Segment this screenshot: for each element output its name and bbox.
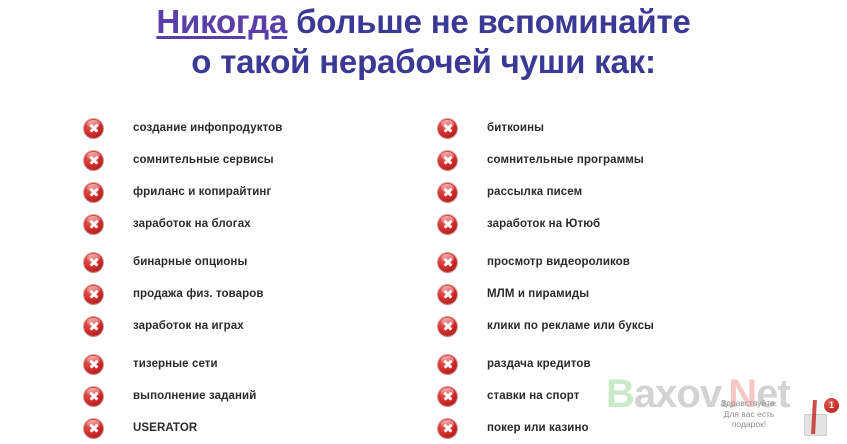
list-item-label: раздача кредитов [487, 358, 591, 370]
icon-gloss [87, 254, 100, 262]
red-x-circle-icon [438, 119, 457, 138]
chat-greeting-line-1: Здравствуйте. [706, 398, 792, 409]
list-item: заработок на играх [84, 310, 434, 342]
chat-greeting: Здравствуйте. Для вас есть подарок! [706, 398, 792, 430]
left-column: создание инфопродуктовсомнительные серви… [84, 112, 434, 444]
page-title: Никогда больше не вспоминайте о такой не… [0, 2, 847, 82]
list-item-label: заработок на играх [133, 320, 244, 332]
red-x-circle-icon [84, 387, 103, 406]
chat-greeting-line-2: Для вас есть [706, 409, 792, 420]
list-item: бинарные опционы [84, 246, 434, 278]
red-x-circle-icon [84, 317, 103, 336]
icon-gloss [441, 152, 454, 160]
list-item-label: заработок на блогах [133, 218, 251, 230]
chat-widget[interactable]: Здравствуйте. Для вас есть подарок! 1 [706, 398, 847, 436]
icon-gloss [441, 420, 454, 428]
icon-gloss [87, 184, 100, 192]
icon-gloss [441, 318, 454, 326]
list-item-label: сомнительные сервисы [133, 154, 274, 166]
list-item-label: ставки на спорт [487, 390, 579, 402]
red-x-circle-icon [84, 355, 103, 374]
list-item-label: USERATOR [133, 422, 197, 434]
title-line-2: о такой нерабочей чуши как: [0, 42, 847, 82]
red-x-circle-icon [438, 215, 457, 234]
icon-gloss [87, 286, 100, 294]
list-item: фриланс и копирайтинг [84, 176, 434, 208]
list-item: сомнительные сервисы [84, 144, 434, 176]
red-x-circle-icon [84, 215, 103, 234]
list-item: тизерные сети [84, 348, 434, 380]
list-item-label: покер или казино [487, 422, 589, 434]
red-x-circle-icon [438, 355, 457, 374]
list-item: сомнительные программы [438, 144, 788, 176]
list-item: клики по рекламе или буксы [438, 310, 788, 342]
list-item: заработок на блогах [84, 208, 434, 240]
list-item-label: сомнительные программы [487, 154, 644, 166]
icon-gloss [87, 420, 100, 428]
icon-gloss [87, 388, 100, 396]
icon-gloss [441, 216, 454, 224]
red-x-circle-icon [84, 151, 103, 170]
red-x-circle-icon [438, 419, 457, 438]
icon-gloss [87, 318, 100, 326]
watermark-b: B [606, 372, 634, 416]
red-x-circle-icon [84, 183, 103, 202]
red-x-circle-icon [438, 387, 457, 406]
list-item-label: биткоины [487, 122, 544, 134]
icon-gloss [87, 152, 100, 160]
list-item-label: выполнение заданий [133, 390, 256, 402]
list-item-label: тизерные сети [133, 358, 218, 370]
list-item: USERATOR [84, 412, 434, 444]
list-item: МЛМ и пирамиды [438, 278, 788, 310]
red-x-circle-icon [438, 317, 457, 336]
red-x-circle-icon [438, 253, 457, 272]
red-x-circle-icon [438, 151, 457, 170]
icon-gloss [441, 184, 454, 192]
list-item: создание инфопродуктов [84, 112, 434, 144]
list-item: просмотр видеороликов [438, 246, 788, 278]
icon-gloss [441, 254, 454, 262]
list-item-label: создание инфопродуктов [133, 122, 282, 134]
red-x-circle-icon [84, 119, 103, 138]
list-item-label: просмотр видеороликов [487, 256, 630, 268]
red-x-circle-icon [438, 285, 457, 304]
red-x-circle-icon [438, 183, 457, 202]
icon-gloss [87, 216, 100, 224]
list-item-label: бинарные опционы [133, 256, 247, 268]
icon-gloss [441, 286, 454, 294]
title-line-1: Никогда больше не вспоминайте [0, 2, 847, 42]
list-item-label: рассылка писем [487, 186, 582, 198]
title-accent-word: Никогда [156, 3, 287, 40]
list-item: заработок на Ютюб [438, 208, 788, 240]
list-item-label: фриланс и копирайтинг [133, 186, 271, 198]
list-item-label: продажа физ. товаров [133, 288, 264, 300]
red-x-circle-icon [84, 285, 103, 304]
icon-gloss [441, 120, 454, 128]
icon-gloss [87, 356, 100, 364]
list-item: биткоины [438, 112, 788, 144]
list-item-label: МЛМ и пирамиды [487, 288, 589, 300]
list-item: выполнение заданий [84, 380, 434, 412]
red-x-circle-icon [84, 253, 103, 272]
title-line-1-rest: больше не вспоминайте [287, 3, 690, 40]
list-item: рассылка писем [438, 176, 788, 208]
chat-greeting-line-3: подарок! [706, 419, 792, 430]
red-x-circle-icon [84, 419, 103, 438]
list-item: продажа физ. товаров [84, 278, 434, 310]
icon-gloss [441, 356, 454, 364]
notification-badge[interactable]: 1 [824, 398, 839, 413]
icon-gloss [87, 120, 100, 128]
list-item-label: заработок на Ютюб [487, 218, 600, 230]
list-item-label: клики по рекламе или буксы [487, 320, 654, 332]
icon-gloss [441, 388, 454, 396]
